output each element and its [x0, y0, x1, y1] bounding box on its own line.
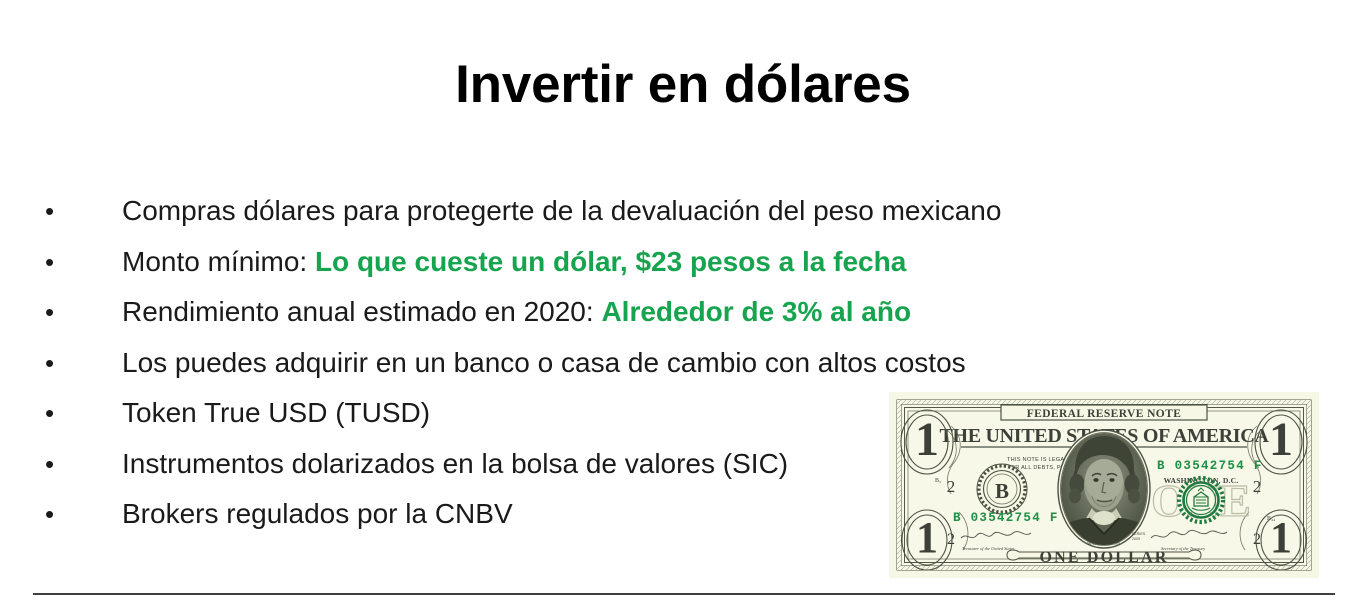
- bill-district-number-right: 2: [1253, 477, 1262, 496]
- bill-corner-numeral-top-right: 1: [1269, 413, 1293, 466]
- bill-plate-letter-left: B₃: [935, 478, 941, 484]
- bill-serial-number-top: B 03542754 F: [1157, 459, 1263, 473]
- bill-header-band: FEDERAL RESERVE NOTE: [1027, 408, 1182, 420]
- bill-bottom-band: ONE DOLLAR: [1039, 549, 1168, 566]
- list-item: • Rendimiento anual estimado en 2020: Al…: [0, 287, 1366, 338]
- list-item-text: Instrumentos dolarizados en la bolsa de …: [122, 448, 788, 479]
- list-item-text: Compras dólares para protegerte de la de…: [122, 195, 1001, 226]
- federal-reserve-seal: B: [977, 464, 1027, 514]
- footer-divider: [33, 593, 1335, 595]
- bill-portrait-caption: WASHINGTON: [1087, 541, 1121, 546]
- bill-signature-caption-left: Treasurer of the United States: [962, 546, 1015, 551]
- list-item: • Monto mínimo: Lo que cueste un dólar, …: [0, 237, 1366, 288]
- bill-plate-letter-right: B₄₄: [1267, 516, 1275, 522]
- washington-portrait: WASHINGTON: [1058, 430, 1151, 548]
- list-item-text: Brokers regulados por la CNBV: [122, 498, 513, 529]
- bill-corner-numeral-bottom-left: 1: [916, 513, 938, 562]
- list-item-accent-text: Alrededor de 3% al año: [601, 296, 911, 327]
- bill-series-year: 2009: [1132, 537, 1140, 541]
- bill-district-number-left: 2: [947, 477, 956, 496]
- slide-canvas: Invertir en dólares • Compras dólares pa…: [0, 0, 1366, 604]
- list-item: • Los puedes adquirir en un banco o casa…: [0, 338, 1366, 389]
- bill-district-number-bottom-right: 2: [1253, 531, 1261, 548]
- bill-series-label: SERIES: [1132, 532, 1146, 536]
- bullet-point-icon: •: [45, 338, 59, 389]
- list-item-accent-text: Lo que cueste un dólar, $23 pesos a la f…: [315, 246, 906, 277]
- bullet-point-icon: •: [45, 237, 59, 288]
- bullet-point-icon: •: [45, 388, 59, 439]
- bill-serial-number-bottom: B 03542754 F: [953, 511, 1059, 525]
- list-item-text: Los puedes adquirir en un banco o casa d…: [122, 347, 966, 378]
- bill-district-number-bottom-left: 2: [947, 531, 955, 548]
- page-title: Invertir en dólares: [0, 56, 1366, 114]
- bullet-point-icon: •: [45, 186, 59, 237]
- bullet-point-icon: •: [45, 439, 59, 490]
- list-item-text: Rendimiento anual estimado en 2020:: [122, 296, 601, 327]
- bullet-point-icon: •: [45, 287, 59, 338]
- list-item-text: Token True USD (TUSD): [122, 397, 430, 428]
- bullet-point-icon: •: [45, 489, 59, 540]
- list-item-text: Monto mínimo:: [122, 246, 315, 277]
- list-item: • Compras dólares para protegerte de la …: [0, 186, 1366, 237]
- dollar-bill-image: FEDERAL RESERVE NOTE THE UNITED STATES O…: [889, 392, 1319, 578]
- dollar-bill-illustration: FEDERAL RESERVE NOTE THE UNITED STATES O…: [889, 392, 1319, 578]
- bill-corner-numeral-top-left: 1: [915, 413, 939, 466]
- bill-district-letter: B: [995, 479, 1009, 503]
